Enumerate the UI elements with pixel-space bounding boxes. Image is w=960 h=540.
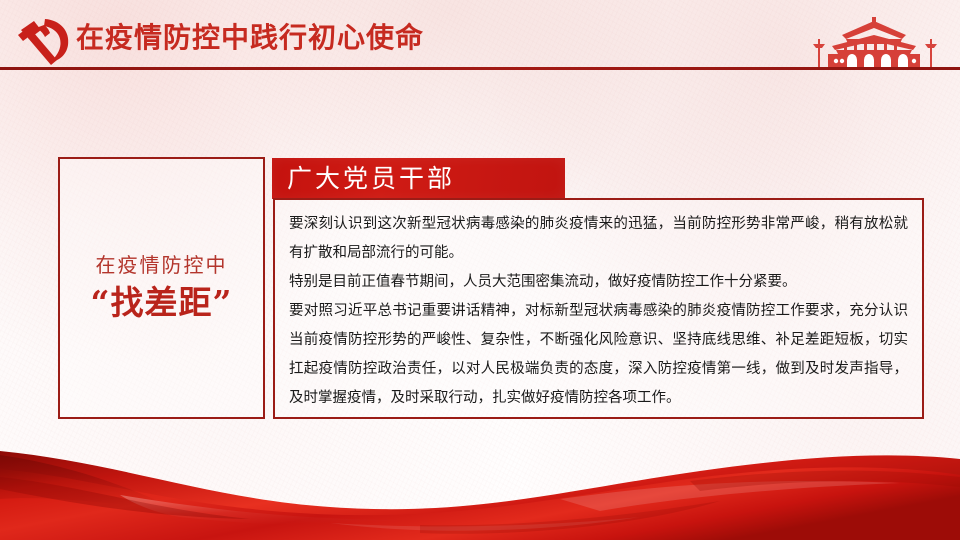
- section-heading-line-2: “找差距”: [91, 281, 233, 325]
- cpc-hammer-sickle-emblem-icon: [14, 16, 72, 66]
- slide-canvas: 在疫情防控中践行初心使命: [0, 0, 960, 540]
- content-panel-body: 要深刻认识到这次新型冠状病毒感染的肺炎疫情来的迅猛，当前防控形势非常严峻，稍有放…: [273, 198, 924, 419]
- content-panel-header-label: 广大党员干部: [287, 161, 455, 197]
- content-paragraph: 要对照习近平总书记重要讲话精神，对标新型冠状病毒感染的肺炎疫情防控工作要求，充分…: [289, 297, 908, 413]
- tiananmen-gate-icon: [802, 13, 952, 68]
- slide-header: 在疫情防控中践行初心使命: [0, 0, 960, 70]
- page-title: 在疫情防控中践行初心使命: [76, 19, 424, 57]
- section-heading-card: 在疫情防控中 “找差距”: [58, 157, 265, 419]
- content-panel-header-bar: 广大党员干部: [272, 158, 565, 199]
- content-paragraph: 要深刻认识到这次新型冠状病毒感染的肺炎疫情来的迅猛，当前防控形势非常严峻，稍有放…: [289, 210, 908, 268]
- red-silk-ribbon-icon: [0, 425, 960, 540]
- header-divider-rule: [0, 67, 960, 70]
- content-paragraph: 特别是目前正值春节期间，人员大范围密集流动，做好疫情防控工作十分紧要。: [289, 268, 908, 297]
- section-heading-line-1: 在疫情防控中: [96, 251, 228, 279]
